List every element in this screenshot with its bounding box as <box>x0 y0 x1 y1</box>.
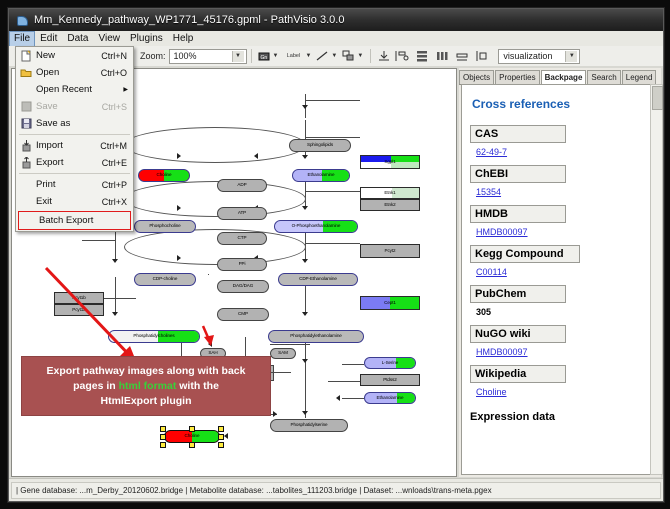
edge <box>342 398 364 399</box>
align-left-tool-icon[interactable] <box>393 49 411 63</box>
xref-db-cas: CAS <box>470 125 566 143</box>
menu-item-batch-export[interactable]: Batch Export <box>18 211 131 230</box>
arrowhead-icon <box>112 259 118 263</box>
expression-half <box>396 358 415 368</box>
window-title: Mm_Kennedy_pathway_WP1771_45176.gpml - P… <box>34 14 344 26</box>
edge <box>305 191 360 192</box>
menu-item-save: Save Ctrl+S <box>16 98 133 115</box>
xref-value-nugo[interactable]: HMDB00097 <box>476 347 648 357</box>
visualization-combo[interactable]: visualization ▼ <box>498 49 580 64</box>
edge <box>328 381 364 382</box>
arrowhead-icon <box>177 153 181 159</box>
xref-value-kegg[interactable]: C00114 <box>476 267 648 277</box>
gene-etnk2[interactable]: Etnk2 <box>360 199 420 211</box>
node-adp[interactable]: ADP <box>217 179 267 192</box>
gene-product-tool-icon[interactable]: Gn <box>257 49 272 63</box>
zoom-combo[interactable]: 100% ▼ <box>169 49 247 64</box>
shape-tool-chevron-icon[interactable]: ▼ <box>357 53 363 59</box>
arrowhead-icon <box>302 206 308 210</box>
side-panel-tabs: Objects Properties Backpage Search Legen… <box>459 68 661 85</box>
gene-pcyt2[interactable]: Pcyt2 <box>360 244 420 258</box>
menu-item-exit[interactable]: Exit Ctrl+X <box>16 193 133 210</box>
xref-value-pubchem: 305 <box>476 307 648 317</box>
xref-db-chebi: ChEBI <box>470 165 566 183</box>
menu-separator <box>19 134 130 135</box>
xref-db-kegg: Kegg Compound <box>470 245 580 263</box>
node-o-phosphoethanolamine[interactable]: O-Phosphoethanolamine <box>274 220 358 233</box>
gene-etnk1[interactable]: Etnk1 <box>360 187 420 199</box>
chevron-down-icon: ▼ <box>565 51 577 62</box>
gene-tool-chevron-icon[interactable]: ▼ <box>273 53 279 59</box>
node-ctp[interactable]: CTP <box>217 232 267 245</box>
menu-help[interactable]: Help <box>168 32 199 46</box>
annotation-callout: Export pathway images along with back pa… <box>21 356 271 416</box>
pathvisio-icon <box>15 13 29 27</box>
node-l-serine[interactable]: L-Serine <box>364 357 416 369</box>
tab-objects[interactable]: Objects <box>459 70 494 84</box>
callout-line3: HtmlExport plugin <box>47 394 246 409</box>
edge <box>271 372 291 373</box>
expression-half <box>392 188 419 198</box>
selection-handle[interactable] <box>160 434 166 440</box>
file-menu-dropdown[interactable]: New Ctrl+N Open Ctrl+O Open Recent ▶ Sav… <box>15 46 134 232</box>
node-cdp-ethanolamine[interactable]: CDP-Ethanolamine <box>278 273 358 286</box>
node-sphingolipids[interactable]: Sphingolipids <box>289 139 351 152</box>
arrowhead-icon <box>177 205 181 211</box>
zoom-label: Zoom: <box>140 51 166 61</box>
open-folder-icon <box>16 65 36 80</box>
line-tool-chevron-icon[interactable]: ▼ <box>331 53 337 59</box>
node-phosphatidylserine[interactable]: Phosphatidylserine <box>270 419 348 432</box>
tab-properties[interactable]: Properties <box>495 70 539 84</box>
callout-highlight: html format <box>119 380 177 392</box>
edge <box>82 240 116 241</box>
menu-file[interactable]: File <box>9 31 35 47</box>
xref-db-nugo: NuGO wiki <box>470 325 566 343</box>
xref-value-hmdb[interactable]: HMDB00097 <box>476 227 648 237</box>
save-icon <box>16 99 36 114</box>
common-width-tool-icon[interactable] <box>453 49 471 63</box>
edge <box>208 274 209 275</box>
xref-db-pubchem: PubChem <box>470 285 566 303</box>
node-sam[interactable]: SAM <box>270 348 296 359</box>
node-ethanolamine-top[interactable]: Ethanolamine <box>292 169 350 182</box>
status-text: | Gene database: ...m_Derby_20120602.bri… <box>11 482 661 499</box>
arrowhead-icon <box>273 411 277 417</box>
edge <box>305 100 360 101</box>
selection-handle[interactable] <box>189 442 195 448</box>
arrowhead-icon <box>224 433 228 439</box>
label-tool-chevron-icon[interactable]: ▼ <box>305 53 311 59</box>
align-top-tool-icon[interactable] <box>376 49 391 63</box>
side-panel-scrollbar[interactable] <box>650 84 663 475</box>
node-ethanolamine-bottom[interactable]: Ethanolamine <box>364 392 416 404</box>
arrowhead-icon <box>302 312 308 316</box>
cross-references-title: Cross references <box>472 97 648 111</box>
scrollbar-thumb[interactable] <box>652 86 663 110</box>
arrowhead-icon <box>302 359 308 363</box>
arrowhead-icon <box>302 259 308 263</box>
new-file-icon <box>16 48 36 63</box>
node-phosphatidylethanolamine[interactable]: Phosphatidylethanolamine <box>268 330 364 343</box>
menu-item-open[interactable]: Open Ctrl+O <box>16 64 133 81</box>
node-ppi[interactable]: PPi <box>217 258 267 271</box>
menu-item-new[interactable]: New Ctrl+N <box>16 47 133 64</box>
menu-plugins[interactable]: Plugins <box>125 32 168 46</box>
menu-separator <box>19 173 130 174</box>
callout-line2-a: pages in <box>73 380 119 392</box>
reaction-curve <box>124 229 306 265</box>
gene-ptdss2[interactable]: Ptdss2 <box>360 374 420 386</box>
export-icon <box>16 155 36 170</box>
xref-db-wikipedia: Wikipedia <box>470 365 566 383</box>
selection-handle[interactable] <box>218 442 224 448</box>
callout-line2-b: with the <box>176 380 219 392</box>
distribute-tool-icon[interactable] <box>433 49 451 63</box>
tab-backpage[interactable]: Backpage <box>541 70 587 85</box>
line-tool-icon[interactable] <box>315 49 330 63</box>
node-choline-top[interactable]: Choline <box>138 169 190 182</box>
xref-value-cas[interactable]: 62-49-7 <box>476 147 648 157</box>
arrowhead-icon <box>254 153 258 159</box>
arrowhead-icon <box>302 411 308 415</box>
edge-dashed <box>270 344 310 345</box>
node-dag[interactable]: DAG/DAG <box>217 280 269 293</box>
stack-vertical-tool-icon[interactable] <box>413 49 431 63</box>
menu-data[interactable]: Data <box>62 32 93 46</box>
save-as-icon <box>16 116 36 131</box>
arrowhead-icon <box>177 255 181 261</box>
menu-item-import[interactable]: Import Ctrl+M <box>16 137 133 154</box>
arrowhead-icon <box>336 395 340 401</box>
shape-tool-icon[interactable] <box>341 49 356 63</box>
common-height-tool-icon[interactable] <box>473 49 491 63</box>
application-window: Mm_Kennedy_pathway_WP1771_45176.gpml - P… <box>8 8 664 502</box>
title-bar: Mm_Kennedy_pathway_WP1771_45176.gpml - P… <box>9 9 663 31</box>
backpage-content: Cross references CAS 62-49-7 ChEBI 15354… <box>461 84 657 475</box>
callout-line1: Export pathway images along with back <box>47 364 246 379</box>
selection-handle[interactable] <box>160 426 166 432</box>
edge <box>305 243 360 244</box>
chevron-down-icon: ▼ <box>232 51 244 62</box>
import-icon <box>16 138 36 153</box>
menu-item-export[interactable]: Export Ctrl+E <box>16 154 133 171</box>
menu-bar: File Edit Data View Plugins Help <box>9 31 663 47</box>
zoom-value: 100% <box>172 51 232 61</box>
gene-sgpl1[interactable]: Sgpl1 <box>360 155 420 169</box>
menu-item-print[interactable]: Print Ctrl+P <box>16 176 133 193</box>
menu-view[interactable]: View <box>93 32 125 46</box>
edge <box>305 137 360 138</box>
arrowhead-icon <box>302 105 308 109</box>
arrowhead-icon <box>302 155 308 159</box>
visualization-value: visualization <box>501 51 565 61</box>
xref-value-wikipedia[interactable]: Choline <box>476 387 648 397</box>
callout-line2: pages in html format with the <box>47 379 246 394</box>
reaction-curve <box>124 181 306 217</box>
menu-item-open-recent[interactable]: Open Recent ▶ <box>16 81 133 98</box>
selection-handle[interactable] <box>218 426 224 432</box>
menu-item-save-as[interactable]: Save as <box>16 115 133 132</box>
selection-handle[interactable] <box>218 434 224 440</box>
svg-text:Gn: Gn <box>261 55 268 61</box>
expression-data-label: Expression data <box>470 411 648 423</box>
annotation-arrow-down-icon <box>197 324 227 354</box>
label-tool-icon[interactable]: Label <box>282 49 304 63</box>
selection-handle[interactable] <box>189 426 195 432</box>
status-bar: | Gene database: ...m_Derby_20120602.bri… <box>9 478 663 501</box>
side-panel: Objects Properties Backpage Search Legen… <box>459 68 661 477</box>
selection-handle[interactable] <box>160 442 166 448</box>
tab-legend[interactable]: Legend <box>622 70 657 84</box>
chevron-right-icon: ▶ <box>123 86 128 93</box>
reaction-curve <box>124 127 306 163</box>
edge <box>342 364 364 365</box>
tab-search[interactable]: Search <box>587 70 620 84</box>
gene-cept1[interactable]: Cept1 <box>360 296 420 310</box>
node-atp[interactable]: ATP <box>217 207 267 220</box>
menu-edit[interactable]: Edit <box>35 32 62 46</box>
xref-db-hmdb: HMDB <box>470 205 566 223</box>
screenshot-root: Mm_Kennedy_pathway_WP1771_45176.gpml - P… <box>0 0 670 509</box>
node-cmp[interactable]: CMP <box>217 308 269 321</box>
xref-value-chebi[interactable]: 15354 <box>476 187 648 197</box>
node-phosphocholine[interactable]: Phosphocholine <box>134 220 196 233</box>
